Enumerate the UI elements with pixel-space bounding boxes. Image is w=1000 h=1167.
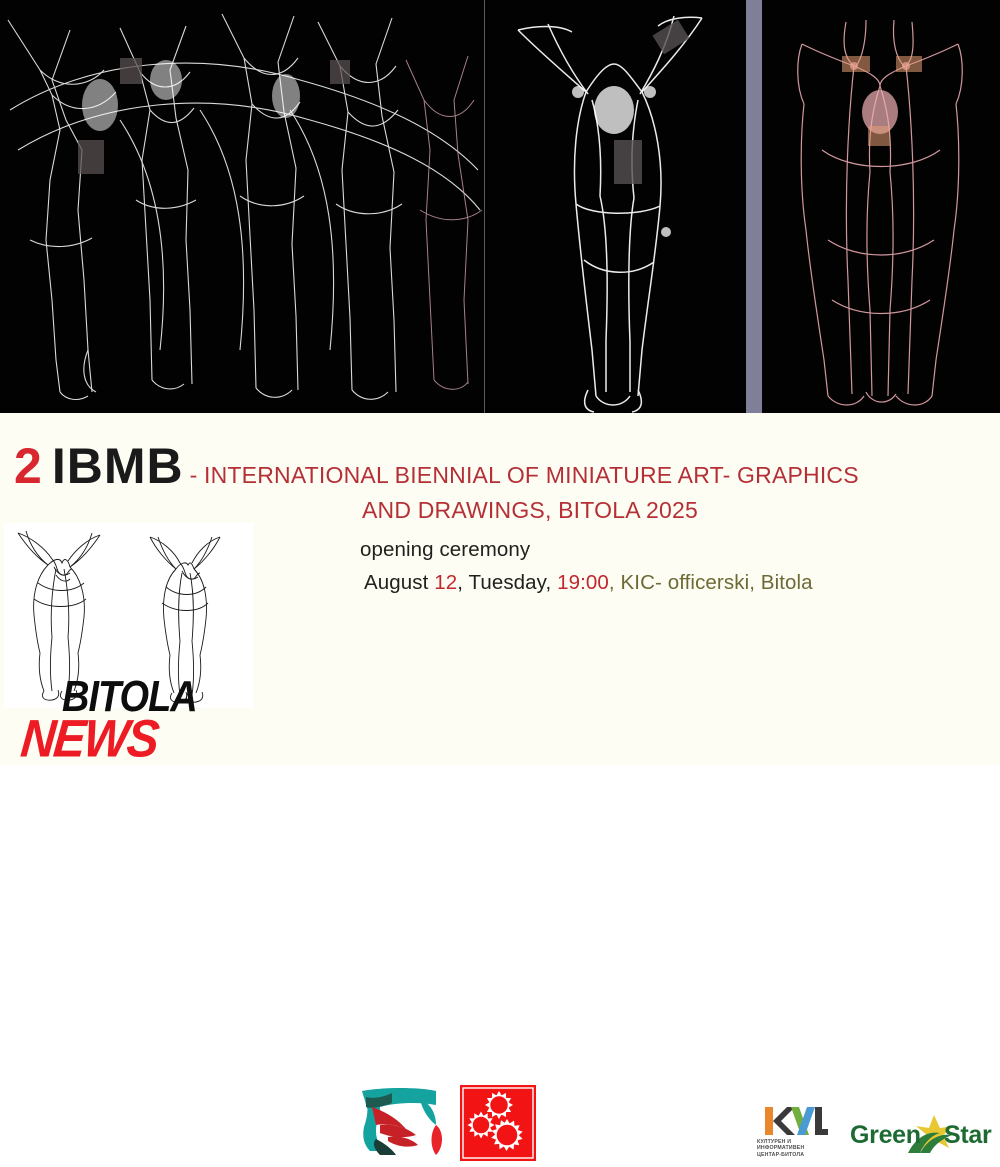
event-venue: , KIC- officerski, Bitola <box>609 571 813 594</box>
weekday-text: , Tuesday, <box>457 571 557 594</box>
sponsor-logo-kic-bitola: КУЛТУРЕН И ИНФОРМАТИВЕН ЦЕНТАР-БИТОЛА <box>757 1105 835 1167</box>
art-panel-left-drawing <box>0 0 484 413</box>
bitola-news-word-bottom: NEWS <box>18 709 160 770</box>
sponsor-logo-green-star: Green Star <box>848 1111 996 1159</box>
green-star-word1: Green <box>850 1121 921 1150</box>
edition-number: 2 <box>14 438 42 494</box>
kic-caption-line3: ЦЕНТАР-БИТОЛА <box>757 1152 835 1158</box>
artwork-panel-divider-1 <box>484 0 485 413</box>
ceremony-label: opening ceremony <box>360 533 813 566</box>
date-prefix: August <box>364 571 428 594</box>
art-panel-right-drawing <box>762 0 1000 413</box>
ceremony-datetime: August 12, Tuesday, 19:00, KIC- officers… <box>360 566 813 599</box>
sponsor-logo-red-gears <box>458 1083 538 1163</box>
event-subtitle-line2: AND DRAWINGS, BITOLA 2025 <box>362 497 698 523</box>
info-band: 2IBMB- INTERNATIONAL BIENNIAL OF MINIATU… <box>0 413 1000 765</box>
event-acronym: IBMB <box>52 438 184 494</box>
kic-caption: КУЛТУРЕН И ИНФОРМАТИВЕН ЦЕНТАР-БИТОЛА <box>757 1139 835 1158</box>
event-details: opening ceremony August 12, Tuesday, 19:… <box>360 533 813 599</box>
art-panel-right <box>762 0 1000 413</box>
artwork-band <box>0 0 1000 413</box>
poster-title-line2: AND DRAWINGS, BITOLA 2025 <box>0 497 1000 524</box>
art-panel-center <box>488 0 746 413</box>
event-time: 19:00 <box>557 571 609 594</box>
art-panel-left <box>0 0 484 413</box>
date-day: 12 <box>434 571 457 594</box>
event-subtitle-line1: - INTERNATIONAL BIENNIAL OF MINIATURE AR… <box>190 462 859 488</box>
artwork-panel-divider-2 <box>746 0 762 413</box>
kic-monogram-icon <box>761 1105 831 1137</box>
event-poster: 2IBMB- INTERNATIONAL BIENNIAL OF MINIATU… <box>0 0 1000 765</box>
green-star-word2: Star <box>944 1121 991 1150</box>
bitola-news-logo: BITOLA NEWS <box>4 523 254 763</box>
sponsor-logo-teal-abstract <box>358 1085 444 1163</box>
bitola-news-wordmark: BITOLA NEWS <box>4 673 254 763</box>
poster-title: 2IBMB- INTERNATIONAL BIENNIAL OF MINIATU… <box>14 437 994 495</box>
art-panel-center-drawing <box>488 0 746 413</box>
